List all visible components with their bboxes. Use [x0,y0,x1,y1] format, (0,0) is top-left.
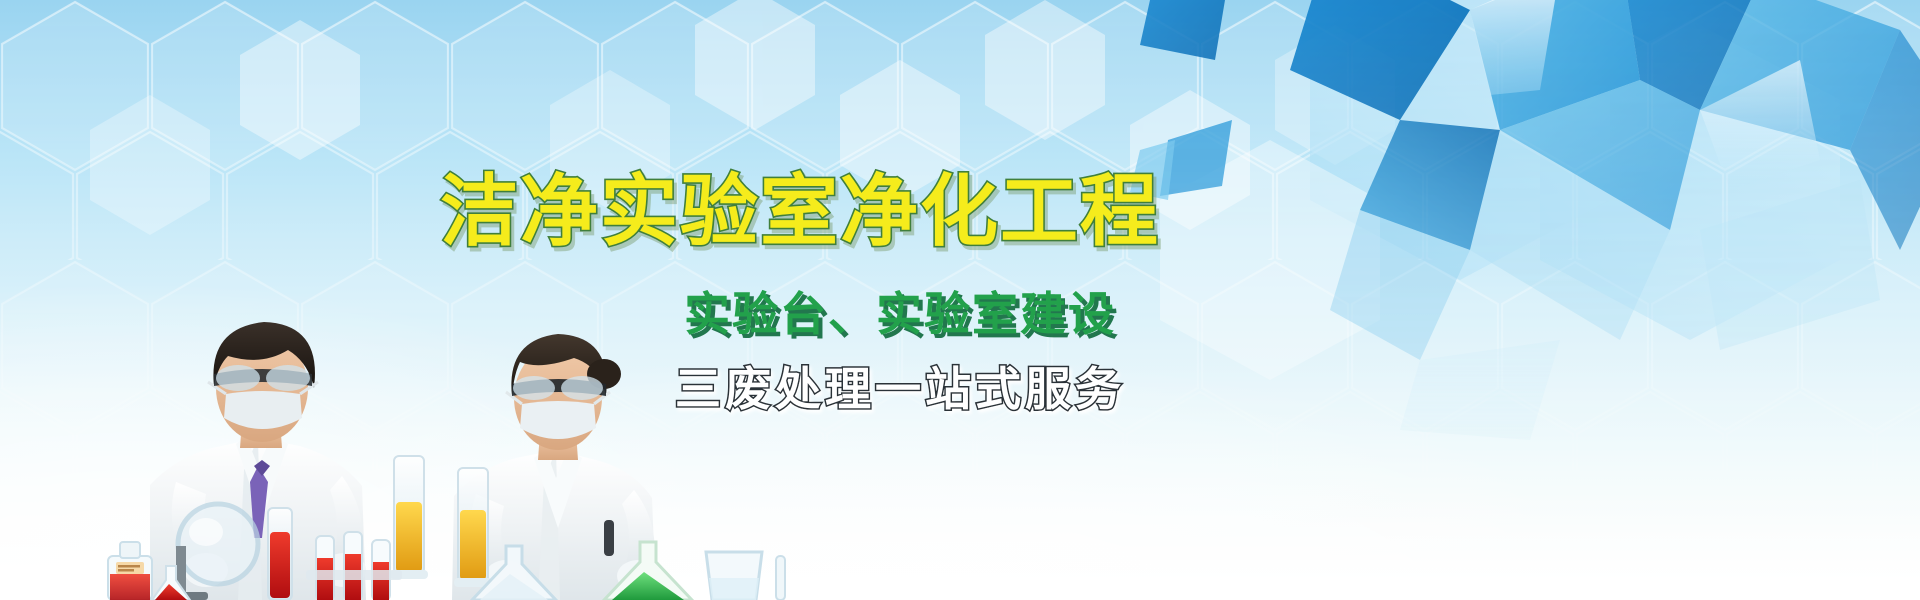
promotional-banner: 洁净实验室净化工程 实验台、实验室建设 三废处理一站式服务 [0,0,1920,600]
subline: 实验台、实验室建设 [684,287,1116,341]
beaker [706,552,762,600]
magnifying-glass-stand [156,504,258,600]
female-scientist [452,334,659,600]
tagline: 三废处理一站式服务 [675,362,1125,416]
subline-text: 实验台、实验室建设 [684,287,1116,341]
green-flask [604,542,692,600]
reagent-bottle [108,542,152,600]
lab-technicians-photo [0,270,820,600]
male-scientist [150,322,366,600]
crystal-shard-graphic [0,0,1920,600]
hexagon-pattern-background [0,0,1920,600]
erlenmeyer-flask [472,546,556,600]
tagline-text: 三废处理一站式服务 [675,362,1125,416]
test-tube-rack [306,532,402,600]
banner-copy: 洁净实验室净化工程 实验台、实验室建设 三废处理一站式服务 [0,0,1920,600]
glassware-cluster [108,456,785,600]
headline: 洁净实验室净化工程 [440,167,1160,257]
white-fade-overlay [0,0,1920,600]
headline-text: 洁净实验室净化工程 [440,167,1160,257]
